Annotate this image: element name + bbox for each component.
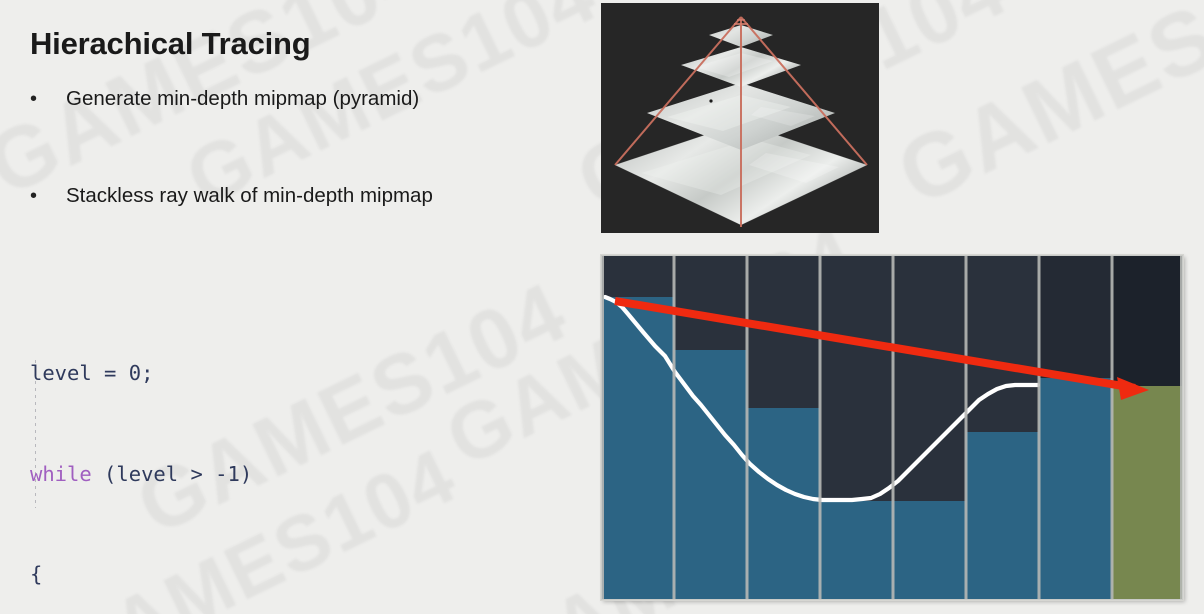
bullet-marker-icon: • (30, 89, 66, 109)
min-depth-cell (601, 297, 674, 600)
code-line: { (30, 558, 413, 592)
code-token-keyword-while: while (30, 462, 92, 486)
slide-root: GAMES104 GAMES104 GAMES104 GAMES104 GAME… (0, 0, 1204, 614)
mipmap-pyramid-figure (601, 3, 879, 233)
min-depth-cell (747, 408, 820, 600)
min-depth-cell (1039, 378, 1112, 600)
bullet-marker-icon: • (30, 186, 66, 206)
min-depth-cell (893, 501, 966, 600)
min-depth-cell-hit (1112, 386, 1183, 600)
pyramid-svg (601, 3, 879, 233)
left-content-column: Hierachical Tracing • Generate min-depth… (0, 0, 600, 614)
code-token-while-condition: (level > -1) (92, 462, 252, 486)
code-line: while (level > -1) (30, 458, 413, 492)
min-depth-cell (966, 432, 1039, 600)
code-token-identifier: level (30, 361, 92, 385)
mipmap-walk-svg (601, 255, 1183, 600)
bullet-item-stackless-walk: • Stackless ray walk of min-depth mipmap (30, 184, 433, 208)
mipmap-walk-diagram (601, 255, 1183, 600)
code-token-brace-open: { (30, 562, 42, 586)
bullet-item-generate-mipmap: • Generate min-depth mipmap (pyramid) (30, 87, 419, 111)
page-title: Hierachical Tracing (30, 26, 311, 62)
min-depth-cell (820, 501, 893, 600)
code-line: level = 0; (30, 357, 413, 391)
watermark: GAMES104 (883, 0, 1204, 227)
code-token-assign: = (92, 361, 129, 385)
code-block: level = 0; while (level > -1) { stepCurr… (30, 290, 413, 614)
code-token-number: 0; (129, 361, 154, 385)
bullet-text: Stackless ray walk of min-depth mipmap (66, 184, 433, 208)
bullet-text: Generate min-depth mipmap (pyramid) (66, 87, 419, 111)
